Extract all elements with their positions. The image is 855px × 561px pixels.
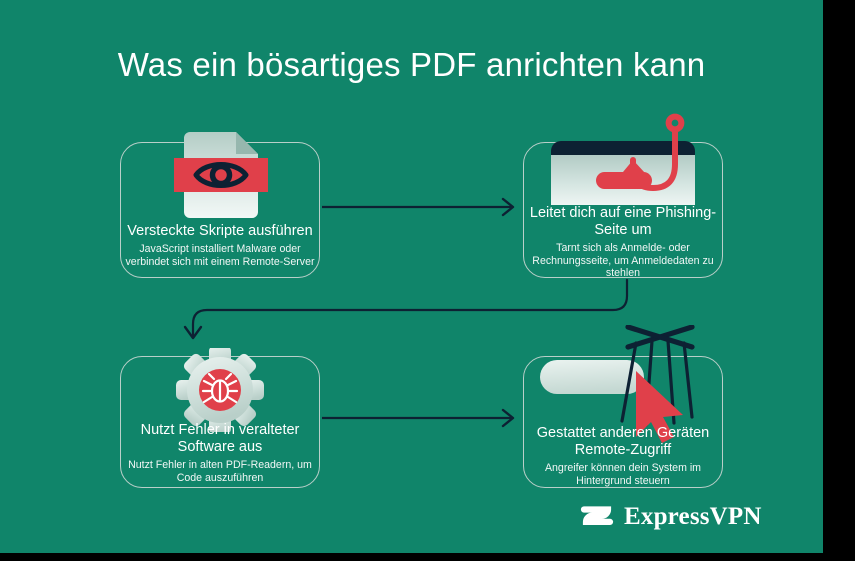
card-subtitle: Angreifer können dein System im Hintergr… <box>528 462 718 487</box>
card-remote-access: Gestattet anderen Geräten Remote-Zugriff… <box>523 356 723 488</box>
card-hidden-scripts: Versteckte Skripte ausführen JavaScript … <box>120 142 320 278</box>
marionette-crossbar <box>628 327 692 347</box>
card-text-block: Gestattet anderen Geräten Remote-Zugriff… <box>524 425 722 487</box>
infographic-stage: Was ein bösartiges PDF anrichten kann Ve… <box>0 0 823 553</box>
card-title: Nutzt Fehler in veralteter Software aus <box>125 422 315 456</box>
card-subtitle: Tarnt sich als Anmelde- oder Rechnungsse… <box>528 242 718 280</box>
card-text-block: Versteckte Skripte ausführen JavaScript … <box>121 223 319 268</box>
card-phishing-redirect: Leitet dich auf eine Phishing-Seite um T… <box>523 142 723 278</box>
brand-name: ExpressVPN <box>624 503 762 531</box>
expressvpn-logo-icon <box>580 500 614 534</box>
card-title: Versteckte Skripte ausführen <box>125 223 315 240</box>
card-text-block: Leitet dich auf eine Phishing-Seite um T… <box>524 205 722 280</box>
screenshot-canvas: Was ein bösartiges PDF anrichten kann Ve… <box>0 0 855 561</box>
expressvpn-logo: ExpressVPN <box>580 500 762 534</box>
card-subtitle: JavaScript installiert Malware oder verb… <box>125 243 315 268</box>
card-subtitle: Nutzt Fehler in alten PDF-Readern, um Co… <box>125 459 315 484</box>
arrow-card1-to-card2 <box>322 199 513 215</box>
arrow-card3-to-card4 <box>322 410 513 426</box>
card-outdated-software: Nutzt Fehler in veralteter Software aus … <box>120 356 320 488</box>
page-title: Was ein bösartiges PDF anrichten kann <box>0 46 823 84</box>
arrow-card2-to-card3 <box>185 280 627 338</box>
card-title: Leitet dich auf eine Phishing-Seite um <box>528 205 718 239</box>
card-text-block: Nutzt Fehler in veralteter Software aus … <box>121 422 319 484</box>
card-title: Gestattet anderen Geräten Remote-Zugriff <box>528 425 718 459</box>
